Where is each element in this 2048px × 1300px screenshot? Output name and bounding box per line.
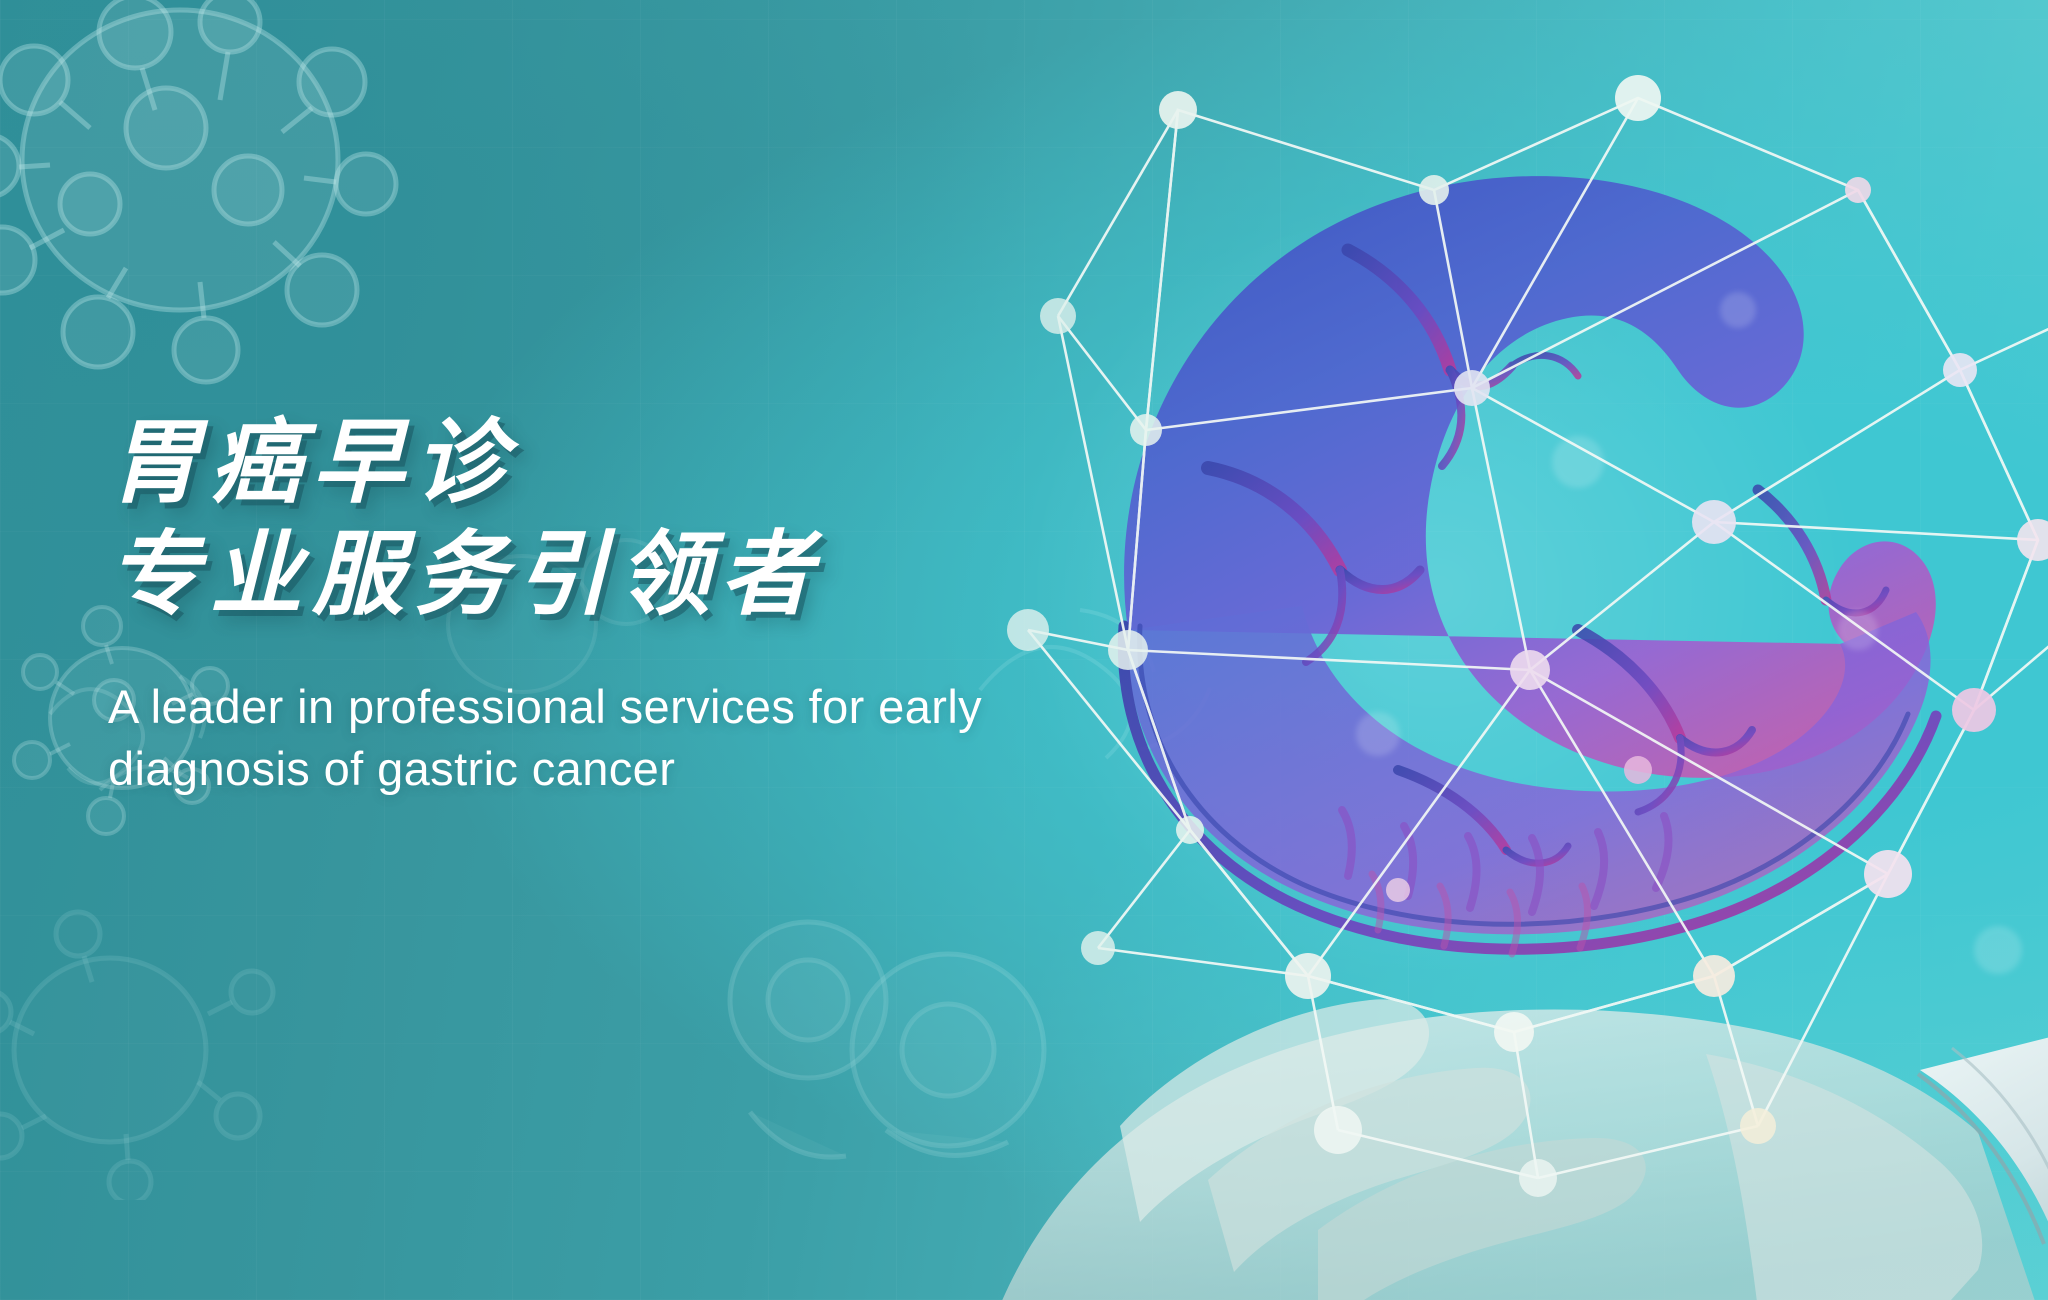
page-subtitle: A leader in professional services for ea… xyxy=(108,676,1108,800)
stomach-organ xyxy=(1124,176,1936,934)
network-nodes xyxy=(1007,75,2048,1197)
finger xyxy=(1318,1138,1646,1300)
network-mesh xyxy=(1028,98,2048,1178)
finger xyxy=(1208,1068,1530,1272)
hero-banner: 胃癌早诊 专业服务引领者 A leader in professional se… xyxy=(0,0,2048,1300)
headline-line-2: 专业服务引领者 xyxy=(108,527,1128,625)
virus-icon xyxy=(0,0,450,400)
hand xyxy=(998,999,2038,1300)
virus-icon xyxy=(0,900,290,1200)
finger xyxy=(1120,999,1429,1222)
headline-line-1: 胃癌早诊 xyxy=(108,412,516,514)
organ-glow xyxy=(1018,190,1858,990)
bokeh-dots xyxy=(1356,292,2022,974)
stomach-rugae-lower xyxy=(1372,874,1588,954)
page-title: 胃癌早诊 专业服务引领者 xyxy=(108,415,1128,624)
subtitle-line-2: diagnosis of gastric cancer xyxy=(108,738,1108,800)
stomach-outline xyxy=(1123,626,1936,949)
hero-copy: 胃癌早诊 专业服务引领者 A leader in professional se… xyxy=(108,415,1128,800)
stomach-rugae xyxy=(1342,810,1669,912)
lab-coat-sleeve xyxy=(1918,1030,2048,1300)
thumb xyxy=(1706,1054,1982,1300)
subtitle-line-1: A leader in professional services for ea… xyxy=(108,680,982,733)
stomach-vessels xyxy=(1208,250,1886,863)
stomach-outline-inner xyxy=(1140,626,1908,924)
cell-cluster-icon xyxy=(690,880,1110,1210)
